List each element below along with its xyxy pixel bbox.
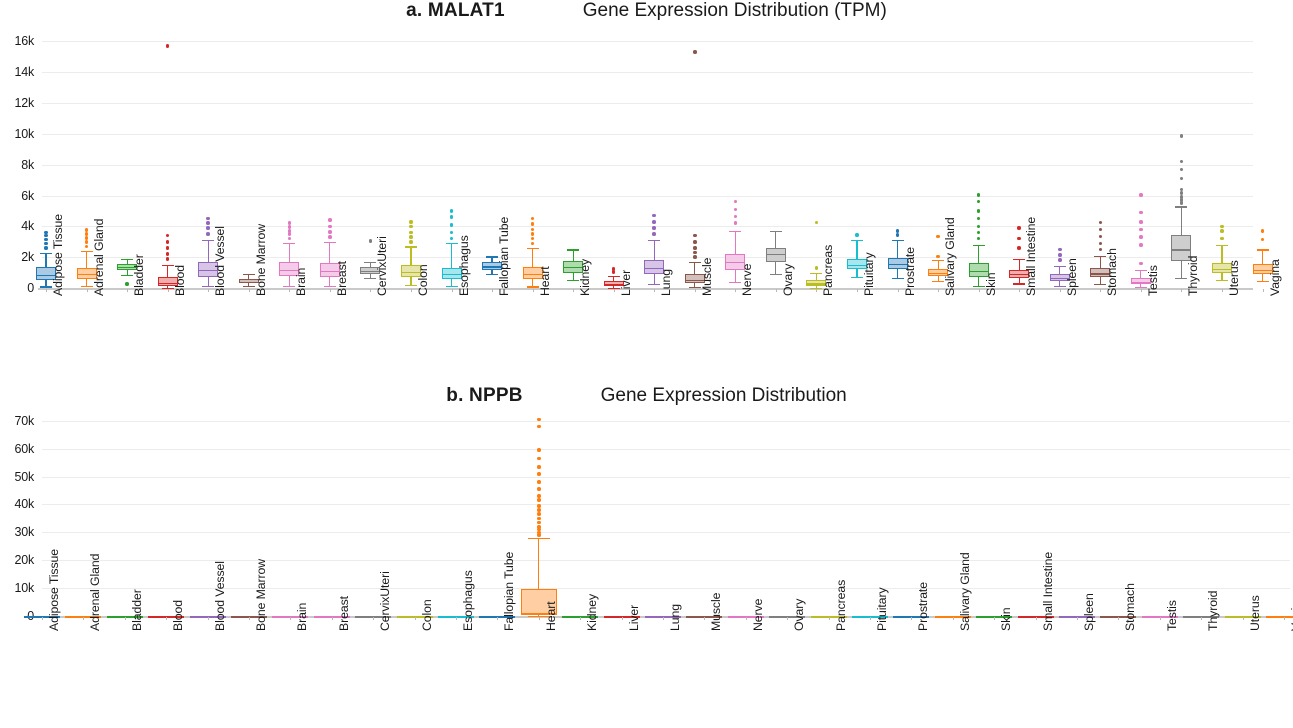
outlier-point	[531, 217, 535, 221]
whisker-cap-lower	[892, 278, 904, 279]
gridline	[42, 588, 1290, 589]
x-axis-tick	[1036, 617, 1037, 620]
x-axis-tick	[695, 289, 696, 292]
x-axis-tick	[829, 617, 830, 620]
outlier-point	[855, 233, 859, 237]
outlier-point	[1220, 237, 1224, 241]
outlier-point	[977, 193, 981, 197]
x-axis-label-pancreas: Pancreas	[834, 580, 848, 631]
x-axis-label-kidney: Kidney	[578, 259, 592, 296]
outlier-point	[166, 240, 170, 244]
chart-title-b-label: b. NPPB	[446, 385, 522, 406]
outlier-point	[85, 240, 89, 244]
x-axis-tick	[166, 617, 167, 620]
whisker-cap-upper	[1216, 245, 1228, 246]
gridline	[42, 477, 1290, 478]
x-axis-label-skin: Skin	[999, 607, 1013, 631]
x-axis-label-cervixuteri: CervixUteri	[378, 571, 392, 631]
outlier-point	[693, 50, 697, 54]
outlier-point	[44, 231, 48, 235]
whisker-cap-lower	[973, 286, 985, 287]
outlier-point	[1139, 243, 1143, 247]
whisker-cap-upper	[162, 265, 174, 266]
outlier-point	[206, 221, 210, 225]
outlier-point	[369, 239, 373, 243]
outlier-point	[531, 222, 535, 226]
x-axis-label-lung: Lung	[668, 604, 682, 631]
whisker-cap-upper	[446, 243, 458, 244]
x-axis-label-heart: Heart	[544, 601, 558, 631]
outlier-point	[1180, 168, 1184, 172]
y-axis-tick-label: 6k	[0, 189, 34, 203]
outlier-point	[1099, 248, 1103, 252]
x-axis-label-muscle: Muscle	[700, 258, 714, 296]
outlier-point	[1180, 134, 1184, 138]
chart-title-a-label: a. MALAT1	[406, 0, 505, 21]
x-axis-label-lung: Lung	[659, 269, 673, 296]
x-axis-label-skin: Skin	[984, 272, 998, 296]
outlier-point	[537, 525, 541, 529]
outlier-point	[409, 231, 413, 235]
outlier-point	[409, 240, 413, 244]
outlier-point	[531, 232, 535, 236]
x-axis-tick	[994, 617, 995, 620]
x-axis-label-brain: Brain	[295, 603, 309, 631]
x-axis-label-esophagus: Esophagus	[457, 235, 471, 296]
gridline	[42, 196, 1253, 197]
y-axis-tick-label: 40k	[0, 497, 34, 511]
x-axis-tick	[497, 617, 498, 620]
outlier-point	[734, 208, 738, 212]
whisker-cap-lower	[1257, 281, 1269, 282]
outlier-point	[815, 266, 819, 270]
outlier-point	[450, 209, 454, 213]
outlier-point	[537, 425, 541, 429]
outlier-point	[166, 257, 170, 261]
whisker-cap-upper	[892, 240, 904, 241]
outlier-point	[409, 235, 413, 239]
x-axis-label-prostrate: Prostrate	[916, 582, 930, 631]
whisker-cap-upper	[528, 538, 550, 539]
x-axis-label-spleen: Spleen	[1065, 258, 1079, 296]
x-axis-label-nerve: Nerve	[740, 264, 754, 296]
whisker-cap-upper	[851, 240, 863, 241]
outlier-point	[1058, 248, 1062, 252]
outlier-point	[1099, 228, 1103, 232]
x-axis-label-brain: Brain	[294, 268, 308, 296]
outlier-point	[531, 228, 535, 232]
x-axis-tick	[533, 289, 534, 292]
gridline	[42, 504, 1290, 505]
x-axis-tick	[898, 289, 899, 292]
whisker-cap-upper	[283, 243, 295, 244]
x-axis-tick	[1019, 289, 1020, 292]
x-axis-label-pituitary: Pituitary	[875, 587, 889, 631]
y-axis-tick-label: 4k	[0, 219, 34, 233]
x-axis-tick	[1100, 289, 1101, 292]
x-axis-label-adipose-tissue: Adipose Tissue	[47, 549, 61, 631]
x-axis-tick	[953, 617, 954, 620]
whisker-cap-upper	[324, 242, 336, 243]
outlier-point	[537, 512, 541, 516]
x-axis-label-breast: Breast	[335, 261, 349, 296]
outlier-point	[125, 282, 129, 286]
y-axis-tick-label: 12k	[0, 96, 34, 110]
outlier-point	[85, 245, 89, 249]
x-axis-label-prostrate: Prostrate	[903, 247, 917, 296]
outlier-point	[206, 217, 210, 221]
x-axis-tick	[911, 617, 912, 620]
whisker-cap-upper	[243, 274, 255, 275]
whisker-cap-upper	[405, 246, 417, 247]
x-axis-label-cervixuteri: CervixUteri	[375, 236, 389, 296]
x-axis-tick	[1201, 617, 1202, 620]
outlier-point	[44, 242, 48, 246]
outlier-point	[612, 270, 616, 274]
x-axis-tick	[249, 289, 250, 292]
outlier-point	[166, 252, 170, 256]
outlier-point	[166, 234, 170, 238]
outlier-point	[409, 225, 413, 229]
x-axis-label-bladder: Bladder	[130, 589, 144, 631]
y-axis-tick-label: 0	[0, 281, 34, 295]
outlier-point	[537, 465, 541, 469]
x-axis-label-bladder: Bladder	[132, 254, 146, 296]
outlier-point	[409, 220, 413, 224]
x-axis-tick	[1160, 617, 1161, 620]
whisker-cap-upper	[770, 231, 782, 232]
outlier-point	[450, 215, 454, 219]
x-axis-label-adrenal-gland: Adrenal Gland	[88, 554, 102, 631]
outlier-point	[44, 234, 48, 238]
outlier-point	[1139, 228, 1143, 232]
whisker-cap-lower	[81, 286, 93, 287]
plot-area-nppb: 010k20k30k40k50k60k70k	[0, 411, 1293, 621]
gridline	[42, 72, 1253, 73]
gridline	[42, 560, 1290, 561]
outlier-point	[612, 267, 616, 271]
gridline	[42, 134, 1253, 135]
x-axis-tick	[330, 289, 331, 292]
x-axis-tick	[746, 617, 747, 620]
x-axis-tick	[290, 617, 291, 620]
chart-title-b-subtitle: Gene Expression Distribution	[601, 385, 847, 406]
x-axis-label-blood: Blood	[173, 265, 187, 296]
whisker-cap-upper	[1175, 206, 1187, 207]
x-axis-label-vagina: Vagina	[1268, 259, 1282, 296]
x-axis-label-bone-marrow: Bone Marrow	[254, 224, 268, 296]
x-axis-tick	[249, 617, 250, 620]
outlier-point	[537, 504, 541, 508]
whisker-line	[451, 243, 452, 285]
x-axis-tick	[654, 289, 655, 292]
outlier-point	[977, 231, 981, 235]
whisker-cap-upper	[1054, 266, 1066, 267]
x-axis-tick	[938, 289, 939, 292]
whisker-cap-upper	[567, 249, 579, 250]
outlier-point	[1139, 211, 1143, 215]
x-axis-tick	[411, 289, 412, 292]
y-axis-tick-label: 70k	[0, 414, 34, 428]
y-axis-tick-label: 8k	[0, 158, 34, 172]
x-axis-label-ovary: Ovary	[781, 264, 795, 296]
whisker-cap-lower	[243, 286, 255, 287]
x-axis-tick	[332, 617, 333, 620]
gridline	[42, 41, 1253, 42]
outlier-point	[977, 217, 981, 221]
x-axis-tick	[735, 289, 736, 292]
x-axis-tick	[573, 289, 574, 292]
x-axis-tick	[614, 289, 615, 292]
x-axis-tick	[208, 289, 209, 292]
outlier-point	[1099, 242, 1103, 246]
outlier-point	[450, 223, 454, 227]
plot-area-malat1: 02k4k6k8k10k12k14k16k	[0, 26, 1293, 291]
panel-malat1: a. MALAT1Gene Expression Distribution (T…	[0, 0, 1293, 385]
outlier-point	[1261, 229, 1265, 233]
outlier-point	[693, 251, 697, 255]
outlier-point	[693, 234, 697, 238]
median-line	[766, 254, 786, 255]
outlier-point	[815, 221, 819, 225]
outlier-point	[44, 238, 48, 242]
outlier-point	[652, 220, 656, 224]
x-axis-tick	[289, 289, 290, 292]
outlier-point	[693, 246, 697, 250]
x-axis-tick	[776, 289, 777, 292]
x-axis-tick	[787, 617, 788, 620]
y-axis-tick-label: 2k	[0, 250, 34, 264]
x-axis-label-fallopian-tube: Fallopian Tube	[502, 552, 516, 631]
x-axis-tick	[1243, 617, 1244, 620]
x-axis-tick	[870, 617, 871, 620]
x-axis-label-thyroid: Thyroid	[1186, 256, 1200, 296]
outlier-point	[166, 44, 170, 48]
outlier-point	[450, 237, 454, 241]
x-axis-label-colon: Colon	[416, 264, 430, 296]
outlier-point	[537, 517, 541, 521]
x-axis-label-pituitary: Pituitary	[862, 252, 876, 296]
outlier-point	[288, 225, 292, 229]
x-axis-tick	[127, 289, 128, 292]
whisker-cap-lower	[446, 286, 458, 287]
y-axis-tick-label: 20k	[0, 553, 34, 567]
x-axis-tick	[415, 617, 416, 620]
x-axis-label-bone-marrow: Bone Marrow	[254, 559, 268, 631]
x-axis-tick	[1284, 617, 1285, 620]
outlier-point	[1139, 220, 1143, 224]
outlier-point	[1180, 198, 1184, 202]
chart-title-a-subtitle: Gene Expression Distribution (TPM)	[583, 0, 887, 21]
x-axis-tick	[373, 617, 374, 620]
outlier-point	[734, 200, 738, 204]
outlier-point	[1017, 237, 1021, 241]
x-axis-label-blood: Blood	[171, 600, 185, 631]
x-axis-tick	[168, 289, 169, 292]
x-axis-tick	[456, 617, 457, 620]
outlier-point	[1058, 253, 1062, 257]
outlier-point	[537, 498, 541, 502]
x-axis-label-liver: Liver	[627, 605, 641, 631]
x-axis-tick	[208, 617, 209, 620]
x-axis-label-blood-vessel: Blood Vessel	[213, 561, 227, 631]
outlier-point	[166, 246, 170, 250]
x-axis-label-blood-vessel: Blood Vessel	[213, 226, 227, 296]
x-axis-label-heart: Heart	[538, 266, 552, 296]
outlier-point	[1261, 238, 1265, 242]
whisker-cap-lower	[527, 286, 539, 287]
x-axis-label-small-intestine: Small Intestine	[1024, 217, 1038, 296]
x-axis-label-salivary-gland: Salivary Gland	[943, 217, 957, 296]
outlier-point	[537, 487, 541, 491]
outlier-point	[1099, 235, 1103, 239]
x-axis-label-nerve: Nerve	[751, 599, 765, 631]
outlier-point	[288, 229, 292, 233]
median-line	[1171, 249, 1191, 250]
x-axis-label-testis: Testis	[1146, 265, 1160, 296]
outlier-point	[531, 242, 535, 246]
x-axis-tick	[704, 617, 705, 620]
x-axis-tick	[87, 289, 88, 292]
outlier-point	[537, 418, 541, 422]
x-axis-tick	[42, 617, 43, 620]
gridline	[42, 165, 1253, 166]
x-axis-tick	[663, 617, 664, 620]
outlier-point	[936, 235, 940, 239]
x-axis-label-vagina: Vagina	[1289, 594, 1293, 631]
outlier-point	[288, 221, 292, 225]
y-axis-tick-label: 10k	[0, 127, 34, 141]
x-axis-label-uterus: Uterus	[1227, 260, 1241, 296]
outlier-point	[734, 221, 738, 225]
x-axis-label-small-intestine: Small Intestine	[1041, 552, 1055, 631]
x-axis-label-esophagus: Esophagus	[461, 570, 475, 631]
outlier-point	[652, 226, 656, 230]
outlier-point	[206, 232, 210, 236]
outlier-point	[328, 218, 332, 222]
gridline	[42, 421, 1290, 422]
x-axis-label-salivary-gland: Salivary Gland	[958, 552, 972, 631]
x-axis-tick	[492, 289, 493, 292]
x-axis-tick	[1141, 289, 1142, 292]
outlier-point	[652, 214, 656, 218]
whisker-line	[1221, 245, 1222, 280]
y-axis-tick-label: 14k	[0, 65, 34, 79]
outlier-point	[537, 508, 541, 512]
x-axis-label-colon: Colon	[420, 599, 434, 631]
outlier-point	[977, 237, 981, 241]
outlier-point	[44, 246, 48, 250]
y-axis-tick-label: 16k	[0, 34, 34, 48]
x-axis-label-kidney: Kidney	[585, 594, 599, 631]
x-axis-label-ovary: Ovary	[792, 599, 806, 631]
outlier-point	[85, 236, 89, 240]
x-axis-tick	[83, 617, 84, 620]
x-axis-label-fallopian-tube: Fallopian Tube	[497, 217, 511, 296]
outlier-point	[537, 448, 541, 452]
outlier-point	[1139, 193, 1143, 197]
x-axis-tick	[1222, 289, 1223, 292]
whisker-cap-upper	[648, 240, 660, 241]
x-axis-tick	[452, 289, 453, 292]
y-axis-tick-label: 30k	[0, 525, 34, 539]
outlier-point	[1220, 225, 1224, 229]
gridline	[42, 449, 1290, 450]
x-axis-tick	[1077, 617, 1078, 620]
x-axis-tick	[370, 289, 371, 292]
x-axis-label-liver: Liver	[619, 270, 633, 296]
outlier-point	[537, 494, 541, 498]
whisker-cap-upper	[973, 245, 985, 246]
chart-title-a: a. MALAT1Gene Expression Distribution (T…	[0, 0, 1293, 26]
x-axis-label-pancreas: Pancreas	[821, 245, 835, 296]
x-axis-label-breast: Breast	[337, 596, 351, 631]
gridline	[42, 103, 1253, 104]
x-axis-label-uterus: Uterus	[1248, 595, 1262, 631]
whisker-cap-upper	[527, 248, 539, 249]
x-axis-label-stomach: Stomach	[1123, 583, 1137, 631]
outlier-point	[896, 229, 900, 233]
gridline	[42, 532, 1290, 533]
outlier-point	[1180, 191, 1184, 195]
x-axis-tick	[46, 289, 47, 292]
outlier-point	[1058, 258, 1062, 262]
outlier-point	[1180, 177, 1184, 181]
y-axis-tick-label: 50k	[0, 470, 34, 484]
outlier-point	[1180, 160, 1184, 164]
outlier-point	[977, 209, 981, 213]
outlier-point	[537, 480, 541, 484]
whisker-cap-upper	[608, 276, 620, 277]
x-axis-tick	[1060, 289, 1061, 292]
x-axis-label-spleen: Spleen	[1082, 593, 1096, 631]
x-axis-tick	[979, 289, 980, 292]
outlier-point	[328, 225, 332, 229]
outlier-point	[1180, 201, 1184, 205]
outlier-point	[537, 531, 541, 535]
outlier-point	[977, 225, 981, 229]
outlier-point	[85, 228, 89, 232]
x-axis-tick	[816, 289, 817, 292]
x-axis-tick	[1181, 289, 1182, 292]
outlier-point	[85, 232, 89, 236]
x-axis-label-thyroid: Thyroid	[1206, 591, 1220, 631]
outlier-point	[1220, 229, 1224, 233]
outlier-point	[693, 240, 697, 244]
whisker-cap-upper	[81, 251, 93, 252]
outlier-point	[977, 200, 981, 204]
x-axis-label-adrenal-gland: Adrenal Gland	[92, 219, 106, 296]
outlier-point	[652, 232, 656, 236]
outlier-point	[896, 233, 900, 237]
outlier-point	[693, 255, 697, 259]
outlier-point	[206, 226, 210, 230]
x-axis-tick	[125, 617, 126, 620]
whisker-cap-lower	[1054, 286, 1066, 287]
outlier-point	[1017, 246, 1021, 250]
y-axis-tick-label: 10k	[0, 581, 34, 595]
x-axis-label-muscle: Muscle	[709, 593, 723, 631]
x-axis-tick	[857, 289, 858, 292]
outlier-point	[288, 232, 292, 236]
outlier-point	[531, 237, 535, 241]
x-axis-label-testis: Testis	[1165, 600, 1179, 631]
outlier-point	[328, 235, 332, 239]
x-axis-tick	[1118, 617, 1119, 620]
outlier-point	[1099, 221, 1103, 225]
panel-nppb: b. NPPBGene Expression Distribution 010k…	[0, 385, 1293, 728]
x-axis-label-adipose-tissue: Adipose Tissue	[51, 214, 65, 296]
